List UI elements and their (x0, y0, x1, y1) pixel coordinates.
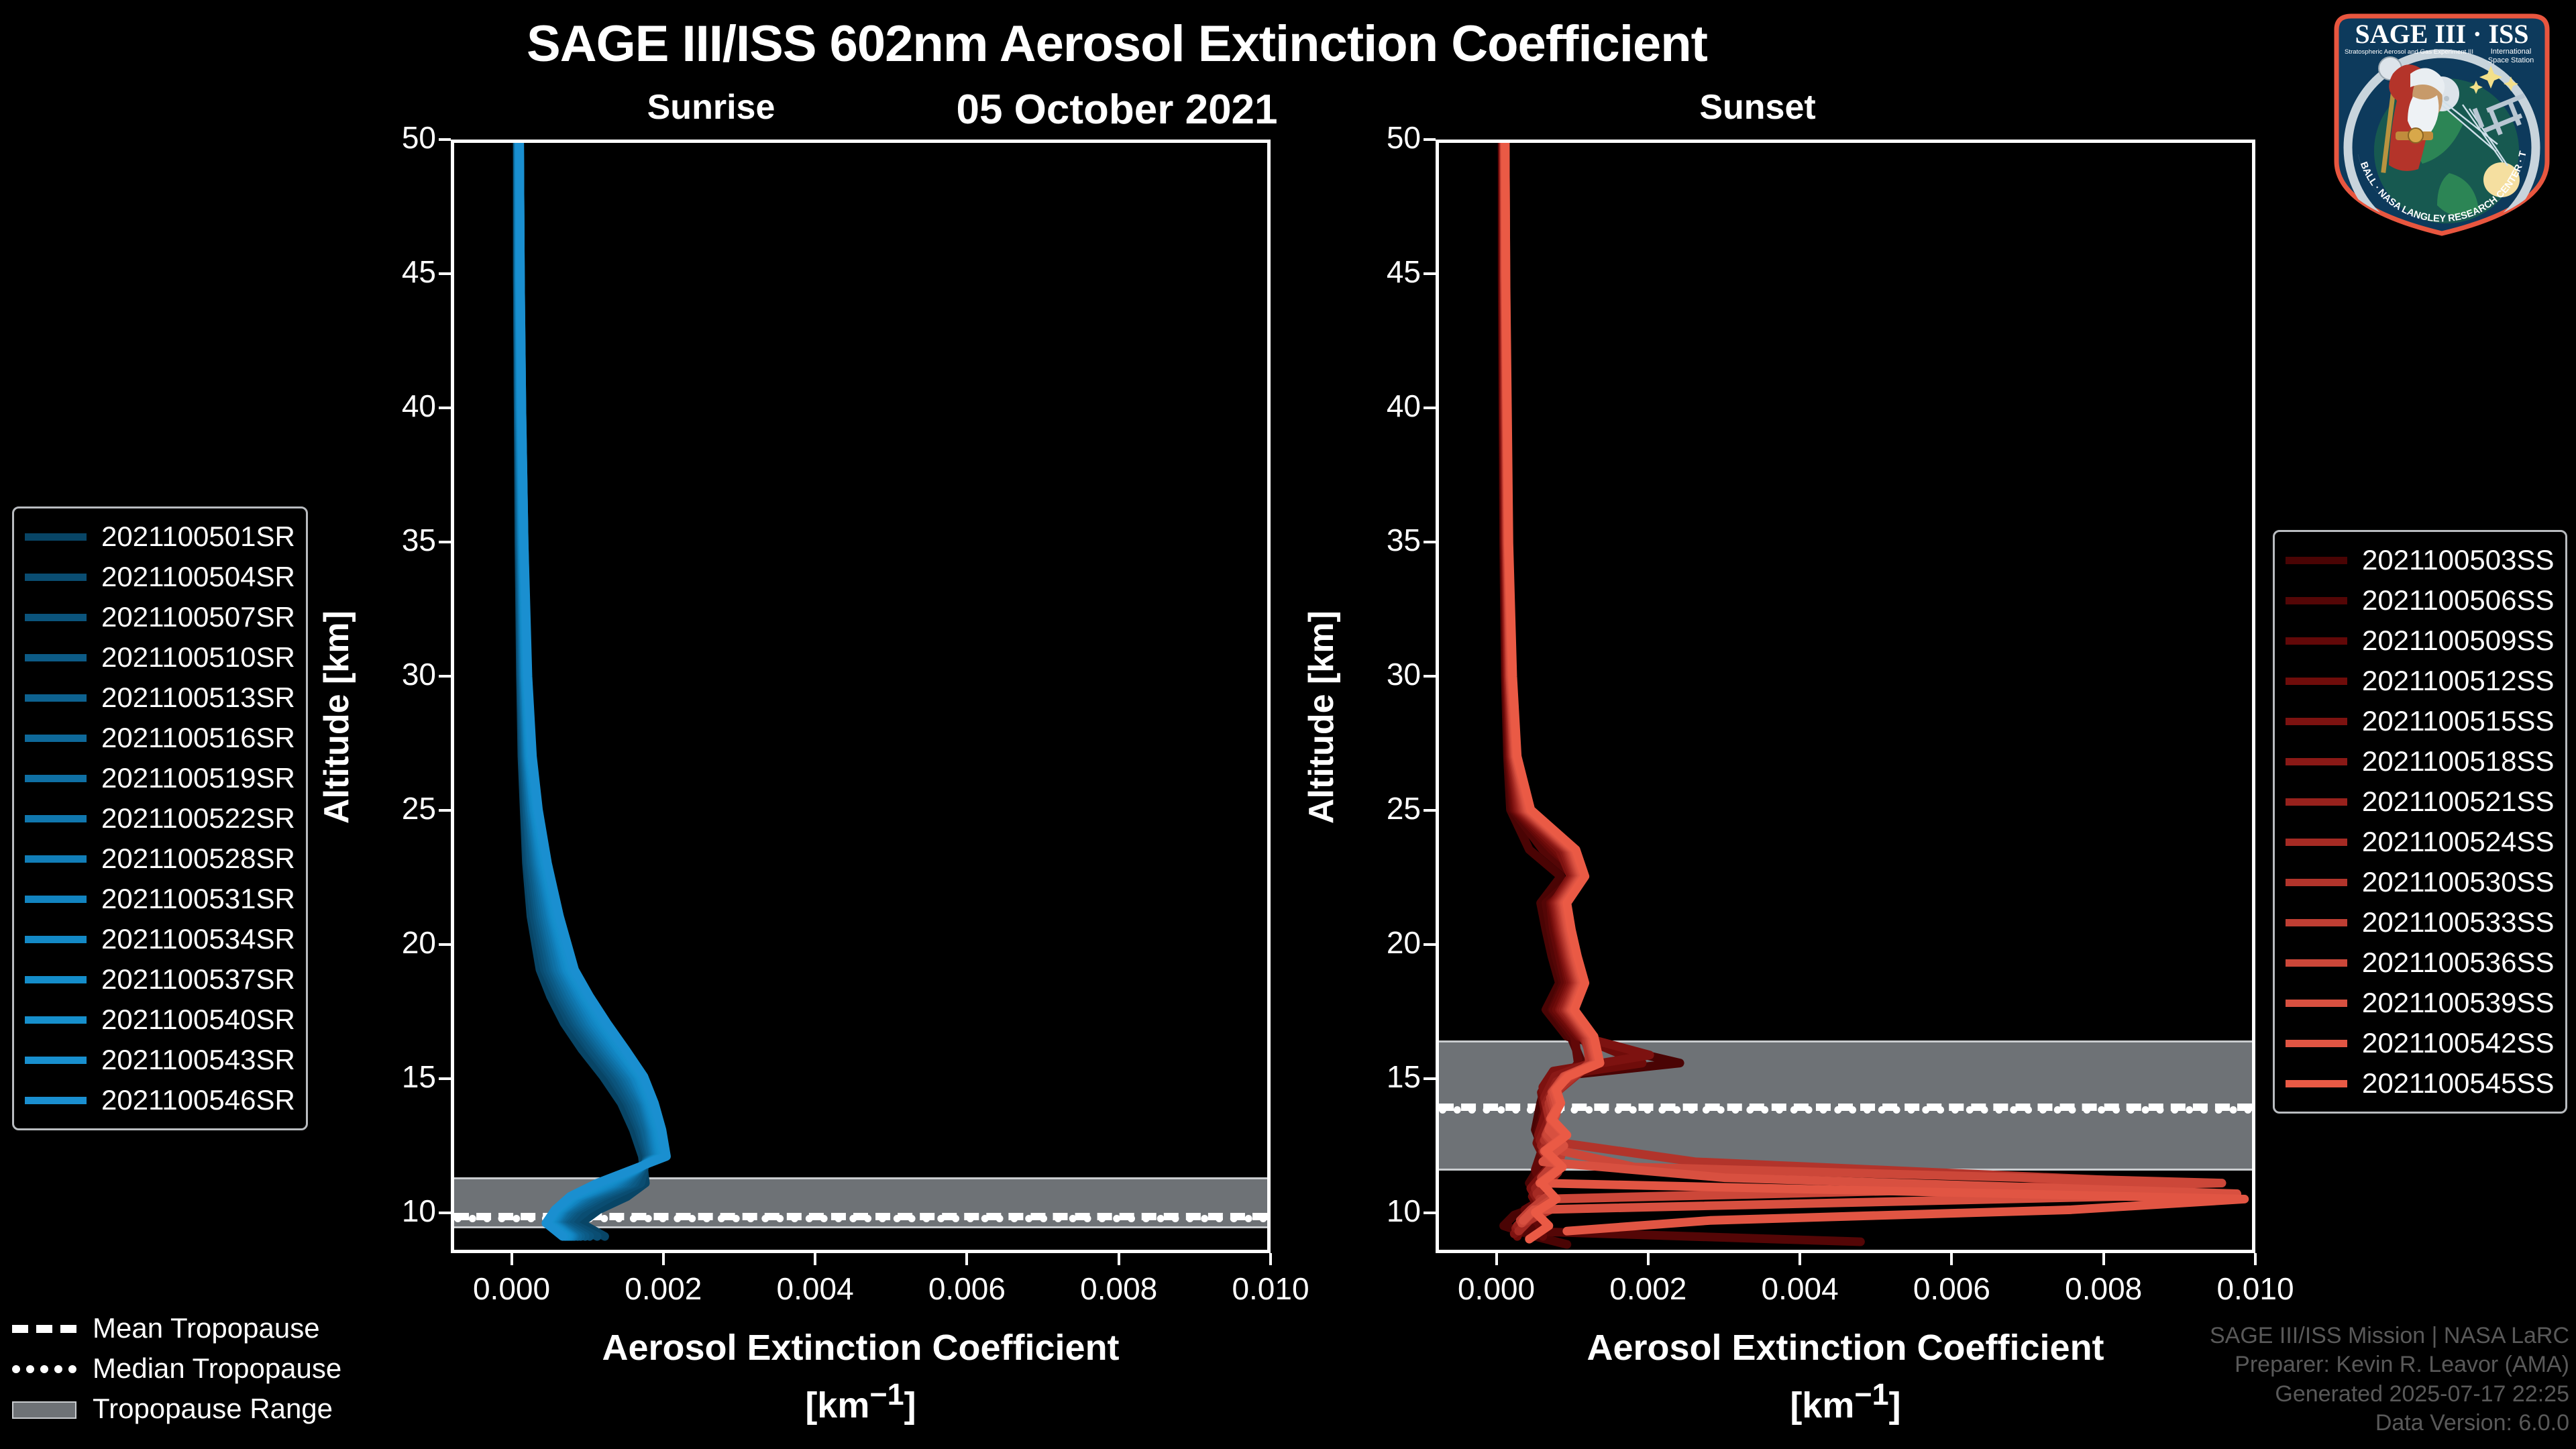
tropopause-legend-item: Tropopause Range (12, 1389, 341, 1429)
y-axis-tick-label: 35 (1340, 522, 1421, 558)
tropopause-legend-label: Median Tropopause (93, 1352, 341, 1385)
y-axis-tick-mark (1424, 943, 1436, 946)
x-axis-tick-label: 0.006 (1878, 1271, 2025, 1307)
y-axis-tick-mark (439, 943, 451, 946)
mean-tropopause-dash-icon (12, 1321, 76, 1336)
plot-panel-sunrise (451, 140, 1271, 1253)
legend-item-label: 2021100516SR (101, 722, 295, 754)
legend-item-label: 2021100543SR (101, 1044, 295, 1076)
legend-item[interactable]: 2021100518SS (2286, 741, 2555, 782)
x-axis-tick-mark (1647, 1253, 1650, 1265)
legend-item[interactable]: 2021100542SS (2286, 1023, 2555, 1063)
y-axis-tick-mark (1424, 1077, 1436, 1080)
legend-item[interactable]: 2021100528SR (25, 839, 295, 879)
legend-color-swatch (2286, 597, 2347, 604)
legend-color-swatch (25, 855, 87, 863)
legend-color-swatch (2286, 718, 2347, 725)
y-axis-tick-label: 10 (1340, 1193, 1421, 1229)
x-axis-tick-mark (2254, 1253, 2257, 1265)
legend-item-label: 2021100504SR (101, 561, 295, 593)
legend-item-label: 2021100522SR (101, 802, 295, 835)
legend-item-label: 2021100533SS (2362, 906, 2555, 938)
legend-item[interactable]: 2021100530SS (2286, 862, 2555, 902)
y-axis-tick-label: 30 (1340, 656, 1421, 692)
legend-item[interactable]: 2021100545SS (2286, 1063, 2555, 1104)
legend-item[interactable]: 2021100540SR (25, 1000, 295, 1040)
x-axis-units-sunset: [km−1] (1436, 1377, 2255, 1426)
y-axis-tick-label: 35 (356, 522, 436, 558)
legend-item[interactable]: 2021100513SR (25, 678, 295, 718)
legend-item[interactable]: 2021100533SS (2286, 902, 2555, 943)
legend-item[interactable]: 2021100536SS (2286, 943, 2555, 983)
x-axis-tick-mark (1118, 1253, 1120, 1265)
legend-item[interactable]: 2021100524SS (2286, 822, 2555, 862)
legend-color-swatch (25, 1057, 87, 1064)
page-title: SAGE III/ISS 602nm Aerosol Extinction Co… (0, 15, 2234, 73)
x-axis-tick-label: 0.000 (438, 1271, 586, 1307)
x-axis-tick-mark (511, 1253, 513, 1265)
tropopause-legend-item: Mean Tropopause (12, 1308, 341, 1348)
legend-item-label: 2021100515SS (2362, 705, 2555, 737)
legend-item[interactable]: 2021100503SS (2286, 540, 2555, 580)
legend-sunset[interactable]: 2021100503SS2021100506SS2021100509SS2021… (2273, 530, 2567, 1114)
legend-color-swatch (25, 976, 87, 983)
logo-subtitle-left: Stratospheric Aerosol and Gas Experiment… (2345, 48, 2473, 56)
y-axis-tick-mark (1424, 675, 1436, 678)
legend-item-label: 2021100537SR (101, 963, 295, 996)
y-axis-label-sunrise: Altitude [km] (317, 610, 357, 824)
y-axis-tick-mark (439, 541, 451, 543)
legend-color-swatch (25, 1016, 87, 1024)
y-axis-tick-mark (439, 138, 451, 141)
legend-color-swatch (25, 735, 87, 742)
legend-item-label: 2021100542SS (2362, 1027, 2555, 1059)
legend-color-swatch (25, 533, 87, 541)
legend-color-swatch (25, 614, 87, 621)
y-axis-tick-mark (1424, 138, 1436, 141)
x-axis-tick-mark (2102, 1253, 2105, 1265)
legend-item-label: 2021100503SS (2362, 544, 2555, 576)
x-axis-tick-label: 0.010 (1197, 1271, 1344, 1307)
y-axis-tick-label: 40 (1340, 388, 1421, 424)
legend-color-swatch (25, 574, 87, 581)
legend-item-label: 2021100531SR (101, 883, 295, 915)
y-axis-tick-mark (439, 1212, 451, 1214)
legend-item-label: 2021100530SS (2362, 866, 2555, 898)
x-axis-tick-mark (1799, 1253, 1801, 1265)
median-tropopause-dot-icon (12, 1361, 76, 1376)
tropopause-legend-label: Mean Tropopause (93, 1312, 320, 1344)
legend-item-label: 2021100513SR (101, 682, 295, 714)
legend-item[interactable]: 2021100537SR (25, 959, 295, 1000)
legend-item-label: 2021100524SS (2362, 826, 2555, 858)
legend-item-label: 2021100546SR (101, 1084, 295, 1116)
legend-item-label: 2021100509SS (2362, 625, 2555, 657)
x-axis-tick-label: 0.004 (741, 1271, 889, 1307)
panel-title-sunset: Sunset (1623, 87, 1892, 127)
legend-color-swatch (2286, 798, 2347, 806)
legend-item[interactable]: 2021100512SS (2286, 661, 2555, 701)
legend-item[interactable]: 2021100543SR (25, 1040, 295, 1080)
legend-item[interactable]: 2021100531SR (25, 879, 295, 919)
legend-item-label: 2021100540SR (101, 1004, 295, 1036)
y-axis-tick-mark (439, 1077, 451, 1080)
plot-panel-sunset (1436, 140, 2255, 1253)
x-axis-tick-label: 0.008 (1045, 1271, 1193, 1307)
y-axis-tick-label: 40 (356, 388, 436, 424)
y-axis-tick-label: 50 (356, 119, 436, 156)
y-axis-tick-label: 10 (356, 1193, 436, 1229)
legend-item[interactable]: 2021100506SS (2286, 580, 2555, 621)
legend-color-swatch (2286, 678, 2347, 685)
credits-line: Preparer: Kevin R. Leavor (AMA) (2210, 1350, 2569, 1380)
y-axis-tick-label: 20 (1340, 924, 1421, 961)
x-axis-tick-mark (1950, 1253, 1953, 1265)
y-axis-tick-mark (439, 809, 451, 812)
legend-item-label: 2021100528SR (101, 843, 295, 875)
x-axis-tick-label: 0.000 (1423, 1271, 1570, 1307)
legend-item-label: 2021100506SS (2362, 584, 2555, 616)
logo-subtitle-right-1: International (2491, 48, 2532, 56)
legend-color-swatch (25, 694, 87, 702)
legend-color-swatch (25, 815, 87, 822)
legend-item-label: 2021100519SR (101, 762, 295, 794)
legend-item[interactable]: 2021100519SR (25, 758, 295, 798)
legend-item-label: 2021100507SR (101, 601, 295, 633)
y-axis-tick-label: 25 (356, 790, 436, 826)
y-axis-label-sunset: Altitude [km] (1301, 610, 1342, 824)
x-axis-units-sunrise: [km−1] (451, 1377, 1271, 1426)
legend-color-swatch (2286, 1040, 2347, 1047)
legend-color-swatch (2286, 839, 2347, 846)
legend-color-swatch (2286, 557, 2347, 564)
y-axis-tick-label: 30 (356, 656, 436, 692)
legend-item[interactable]: 2021100546SR (25, 1080, 295, 1120)
tropopause-legend: Mean TropopauseMedian TropopauseTropopau… (12, 1308, 341, 1429)
x-axis-tick-label: 0.004 (1726, 1271, 1874, 1307)
legend-item[interactable]: 2021100534SR (25, 919, 295, 959)
legend-color-swatch (25, 896, 87, 903)
x-axis-label-sunset: Aerosol Extinction Coefficient (1436, 1327, 2255, 1368)
legend-item[interactable]: 2021100521SS (2286, 782, 2555, 822)
legend-color-swatch (25, 936, 87, 943)
y-axis-tick-mark (1424, 1212, 1436, 1214)
legend-item[interactable]: 2021100504SR (25, 557, 295, 597)
legend-item[interactable]: 2021100516SR (25, 718, 295, 758)
profile-line (1502, 143, 1680, 1244)
legend-color-swatch (2286, 919, 2347, 926)
tropopause-range-box-icon (12, 1401, 76, 1416)
panel-title-sunrise: Sunrise (577, 87, 845, 127)
legend-item[interactable]: 2021100509SS (2286, 621, 2555, 661)
y-axis-tick-label: 50 (1340, 119, 1421, 156)
legend-item[interactable]: 2021100501SR (25, 517, 295, 557)
x-axis-tick-label: 0.010 (2182, 1271, 2329, 1307)
x-axis-tick-label: 0.006 (893, 1271, 1040, 1307)
legend-item-label: 2021100536SS (2362, 947, 2555, 979)
legend-item-label: 2021100501SR (101, 521, 295, 553)
y-axis-tick-mark (439, 675, 451, 678)
legend-item[interactable]: 2021100515SS (2286, 701, 2555, 741)
legend-item[interactable]: 2021100522SR (25, 798, 295, 839)
tropopause-legend-item: Median Tropopause (12, 1348, 341, 1389)
sage-iii-iss-mission-patch-logo: BALL · NASA LANGLEY RESEARCH CENTER · TA… (2318, 7, 2566, 238)
legend-item-label: 2021100518SS (2362, 745, 2555, 777)
y-axis-tick-label: 20 (356, 924, 436, 961)
credits-line: Data Version: 6.0.0 (2210, 1409, 2569, 1438)
x-axis-tick-mark (965, 1253, 968, 1265)
legend-item-label: 2021100545SS (2362, 1067, 2555, 1099)
legend-color-swatch (2286, 637, 2347, 645)
legend-sunrise[interactable]: 2021100501SR2021100504SR2021100507SR2021… (12, 506, 308, 1130)
logo-subtitle-right-2: Space Station (2488, 56, 2534, 64)
y-axis-tick-label: 25 (1340, 790, 1421, 826)
legend-color-swatch (2286, 758, 2347, 765)
tropopause-legend-label: Tropopause Range (93, 1393, 333, 1425)
y-axis-tick-mark (439, 272, 451, 275)
y-axis-tick-label: 15 (356, 1059, 436, 1095)
legend-item-label: 2021100512SS (2362, 665, 2555, 697)
legend-color-swatch (2286, 1080, 2347, 1087)
x-axis-tick-label: 0.008 (2030, 1271, 2178, 1307)
x-axis-tick-mark (1495, 1253, 1498, 1265)
page-subtitle-date: 05 October 2021 (0, 86, 2234, 133)
legend-item-label: 2021100510SR (101, 641, 295, 674)
y-axis-tick-mark (1424, 272, 1436, 275)
y-axis-tick-mark (1424, 809, 1436, 812)
x-axis-tick-label: 0.002 (1574, 1271, 1722, 1307)
profile-line (520, 143, 667, 1236)
legend-color-swatch (25, 775, 87, 782)
y-axis-tick-mark (439, 407, 451, 409)
x-axis-tick-label: 0.002 (590, 1271, 737, 1307)
legend-item-label: 2021100539SS (2362, 987, 2555, 1019)
legend-color-swatch (25, 654, 87, 661)
y-axis-tick-label: 15 (1340, 1059, 1421, 1095)
credits-line: Generated 2025-07-17 22:25 (2210, 1380, 2569, 1409)
legend-item[interactable]: 2021100539SS (2286, 983, 2555, 1023)
y-axis-tick-label: 45 (1340, 254, 1421, 290)
legend-color-swatch (2286, 879, 2347, 886)
x-axis-tick-mark (662, 1253, 665, 1265)
credits-line: SAGE III/ISS Mission | NASA LaRC (2210, 1322, 2569, 1351)
legend-item-label: 2021100521SS (2362, 786, 2555, 818)
logo-title: SAGE III · ISS (2355, 19, 2528, 49)
profile-lines-sunrise (454, 143, 1267, 1250)
y-axis-tick-mark (1424, 407, 1436, 409)
y-axis-tick-label: 45 (356, 254, 436, 290)
legend-item[interactable]: 2021100507SR (25, 597, 295, 637)
legend-color-swatch (25, 1097, 87, 1104)
x-axis-label-sunrise: Aerosol Extinction Coefficient (451, 1327, 1271, 1368)
legend-color-swatch (2286, 1000, 2347, 1007)
y-axis-tick-mark (1424, 541, 1436, 543)
legend-item[interactable]: 2021100510SR (25, 637, 295, 678)
x-axis-tick-mark (814, 1253, 816, 1265)
legend-item-label: 2021100534SR (101, 923, 295, 955)
profile-lines-sunset (1439, 143, 2252, 1250)
legend-color-swatch (2286, 959, 2347, 967)
credits-block: SAGE III/ISS Mission | NASA LaRCPreparer… (2210, 1322, 2569, 1438)
x-axis-tick-mark (1269, 1253, 1272, 1265)
